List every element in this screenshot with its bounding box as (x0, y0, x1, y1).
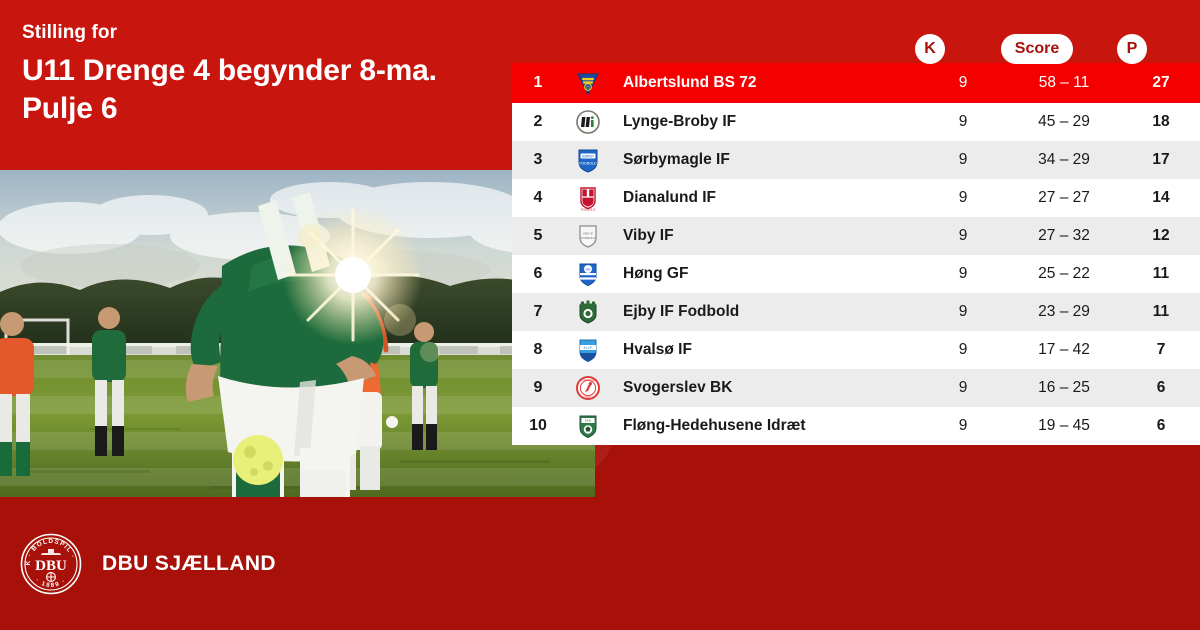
svogerslev-bk-logo: SVOGERSLEVBOLDKLUB (564, 375, 612, 401)
table-row[interactable]: 1 72 Albertslund BS 72 9 58 – 11 27 (512, 63, 1200, 103)
row-rank: 10 (512, 417, 564, 435)
svg-text:FODBOLD: FODBOLD (579, 162, 597, 166)
svg-text:SVOGERSLEV: SVOGERSLEV (579, 378, 597, 382)
row-rank: 8 (512, 341, 564, 359)
row-rank: 4 (512, 189, 564, 207)
row-team-name: Ejby IF Fodbold (612, 303, 920, 321)
row-team-name: Sørbymagle IF (612, 151, 920, 169)
row-score: 19 – 45 (1006, 417, 1122, 435)
svg-text:DBU: DBU (35, 558, 67, 574)
svg-text:FODBOLD: FODBOLD (581, 208, 596, 211)
row-matches: 9 (920, 189, 1006, 207)
row-score: 58 – 11 (1006, 74, 1122, 92)
footer-title: DBU SJÆLLAND (102, 552, 276, 576)
points-badge: P (1117, 34, 1147, 64)
page-kicker: Stilling for (22, 22, 117, 44)
row-score: 27 – 27 (1006, 189, 1122, 207)
matches-played-badge: K (915, 34, 945, 64)
svg-text:FODBOLD: FODBOLD (581, 236, 596, 240)
svg-text:BOLDKLUB: BOLDKLUB (581, 395, 595, 399)
sorbymagle-if-logo: SØRBYFODBOLD (564, 147, 612, 173)
row-rank: 5 (512, 227, 564, 245)
row-matches: 9 (920, 151, 1006, 169)
row-points: 6 (1122, 417, 1200, 435)
flong-hedehusene-idraet-logo: FHI (564, 413, 612, 439)
footer: DANSK · BOLDSPIL · UNION · 1889 · DBU DB… (0, 497, 1200, 630)
row-points: 18 (1122, 113, 1200, 131)
row-score: 45 – 29 (1006, 113, 1122, 131)
row-matches: 9 (920, 417, 1006, 435)
svg-text:72: 72 (586, 85, 591, 90)
page-title: U11 Drenge 4 begynder 8-ma. Pulje 6 (22, 52, 522, 128)
row-matches: 9 (920, 113, 1006, 131)
ejby-if-fodbold-logo (564, 299, 612, 325)
standings-graphic: DBU Stilling for U11 Drenge 4 begynder 8… (0, 0, 1200, 630)
row-matches: 9 (920, 379, 1006, 397)
dianalund-if-logo: FODBOLD (564, 185, 612, 211)
row-team-name: Viby IF (612, 227, 920, 245)
row-rank: 3 (512, 151, 564, 169)
hvalso-if-logo: H.I.F (564, 337, 612, 363)
row-points: 27 (1122, 74, 1200, 92)
row-score: 16 – 25 (1006, 379, 1122, 397)
row-score: 23 – 29 (1006, 303, 1122, 321)
table-row[interactable]: 5 VIBY IFFODBOLD Viby IF 9 27 – 32 12 (512, 217, 1200, 255)
table-row[interactable]: 3 SØRBYFODBOLD Sørbymagle IF 9 34 – 29 1… (512, 141, 1200, 179)
row-matches: 9 (920, 227, 1006, 245)
row-rank: 6 (512, 265, 564, 283)
svg-text:VIBY IF: VIBY IF (583, 232, 593, 236)
row-points: 6 (1122, 379, 1200, 397)
table-row[interactable]: 10 FHI Fløng-Hedehusene Idræt 9 19 – 45 … (512, 407, 1200, 445)
row-rank: 9 (512, 379, 564, 397)
svg-text:SØRBY: SØRBY (582, 155, 595, 159)
row-team-name: Dianalund IF (612, 189, 920, 207)
row-score: 25 – 22 (1006, 265, 1122, 283)
row-points: 12 (1122, 227, 1200, 245)
header-band-right (512, 0, 1200, 63)
header-band: Stilling for U11 Drenge 4 begynder 8-ma.… (0, 0, 512, 170)
albertslund-bs-72-logo: 72 (564, 70, 612, 96)
svg-text:HG: HG (585, 267, 590, 271)
table-row[interactable]: 4 FODBOLD Dianalund IF 9 27 – 27 14 (512, 179, 1200, 217)
row-score: 17 – 42 (1006, 341, 1122, 359)
table-row[interactable]: 6 HG Høng GF 9 25 – 22 11 (512, 255, 1200, 293)
row-rank: 2 (512, 113, 564, 131)
row-rank: 1 (512, 74, 564, 92)
row-matches: 9 (920, 303, 1006, 321)
row-team-name: Svogerslev BK (612, 379, 920, 397)
table-row[interactable]: 2 Lynge-Broby IF 9 45 – 29 18 (512, 103, 1200, 141)
row-team-name: Albertslund BS 72 (612, 74, 920, 92)
goal-score-badge: Score (1001, 34, 1073, 64)
row-team-name: Lynge-Broby IF (612, 113, 920, 131)
row-points: 11 (1122, 265, 1200, 283)
football-match-photo (0, 170, 595, 497)
row-matches: 9 (920, 74, 1006, 92)
lynge-broby-if-logo (564, 109, 612, 135)
row-matches: 9 (920, 265, 1006, 283)
row-points: 14 (1122, 189, 1200, 207)
row-score: 34 – 29 (1006, 151, 1122, 169)
row-points: 17 (1122, 151, 1200, 169)
row-points: 7 (1122, 341, 1200, 359)
standings-table: 1 72 Albertslund BS 72 9 58 – 11 27 2 Ly… (512, 63, 1200, 445)
table-row[interactable]: 8 H.I.F Hvalsø IF 9 17 – 42 7 (512, 331, 1200, 369)
row-rank: 7 (512, 303, 564, 321)
svg-text:H.I.F: H.I.F (584, 346, 593, 350)
row-team-name: Høng GF (612, 265, 920, 283)
row-team-name: Hvalsø IF (612, 341, 920, 359)
dbu-seal-logo: DANSK · BOLDSPIL · UNION · 1889 · DBU (20, 533, 82, 595)
svg-text:FHI: FHI (585, 419, 591, 423)
row-team-name: Fløng-Hedehusene Idræt (612, 417, 920, 435)
table-row[interactable]: 9 SVOGERSLEVBOLDKLUB Svogerslev BK 9 16 … (512, 369, 1200, 407)
table-row[interactable]: 7 Ejby IF Fodbold 9 23 – 29 11 (512, 293, 1200, 331)
row-matches: 9 (920, 341, 1006, 359)
hong-gf-logo: HG (564, 261, 612, 287)
viby-if-logo: VIBY IFFODBOLD (564, 223, 612, 249)
row-points: 11 (1122, 303, 1200, 321)
row-score: 27 – 32 (1006, 227, 1122, 245)
